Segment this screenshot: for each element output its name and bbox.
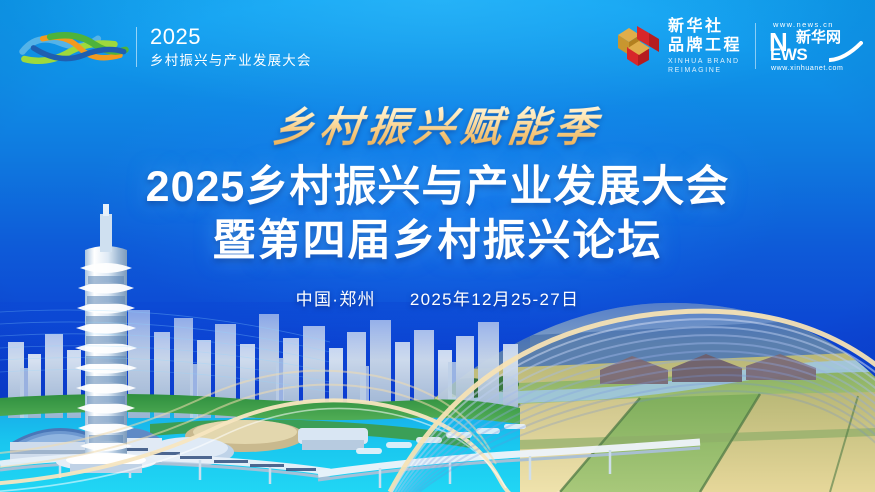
- conference-name-block: 2025 乡村振兴与产业发展大会: [150, 26, 312, 68]
- news-word: EWS: [770, 46, 807, 63]
- xinhua-brand-text: 新华社 品牌工程 XINHUA BRAND REIMAGINE: [668, 19, 742, 74]
- script-title: 乡村振兴赋能季: [0, 103, 875, 151]
- xinhua-brand-logo: 新华社 品牌工程 XINHUA BRAND REIMAGINE: [615, 19, 742, 74]
- xinhua-cubes-icon: [615, 23, 661, 69]
- main-title-line1: 2025乡村振兴与产业发展大会: [0, 160, 875, 214]
- xinhuanet-logo: www.news.cn N EWS 新华网 www.xinhuanet.com: [769, 20, 861, 72]
- header-subtitle: 乡村振兴与产业发展大会: [150, 54, 312, 68]
- sponsor-logos: 新华社 品牌工程 XINHUA BRAND REIMAGINE www.news…: [615, 20, 861, 72]
- event-dates: 2025年12月25-27日: [410, 290, 579, 309]
- event-meta: 中国·郑州 2025年12月25-27日: [0, 285, 875, 310]
- conference-logo-block: 2025 乡村振兴与产业发展大会: [18, 24, 312, 70]
- header-year: 2025: [150, 26, 312, 48]
- xinhua-en2: REIMAGINE: [668, 67, 742, 74]
- main-title-line2: 暨第四届乡村振兴论坛: [0, 214, 875, 268]
- logo-separator: [755, 23, 756, 69]
- xinhua-en1: XINHUA BRAND: [668, 58, 742, 65]
- xinhua-line1: 新华社: [668, 19, 742, 35]
- poster-header: 2025 乡村振兴与产业发展大会 新华社: [0, 0, 875, 92]
- event-location: 中国·郑州: [296, 290, 376, 309]
- main-title: 2025乡村振兴与产业发展大会 暨第四届乡村振兴论坛: [0, 160, 875, 268]
- event-poster: 2025 乡村振兴与产业发展大会 新华社: [0, 0, 875, 492]
- news-url-bottom: www.xinhuanet.com: [771, 65, 843, 72]
- swoosh-icon: [829, 41, 863, 63]
- ribbon-wave-logo-icon: [18, 24, 130, 70]
- news-logo-core: N EWS 新华网: [769, 29, 861, 63]
- header-divider: [136, 27, 137, 67]
- xinhua-line2: 品牌工程: [668, 38, 742, 54]
